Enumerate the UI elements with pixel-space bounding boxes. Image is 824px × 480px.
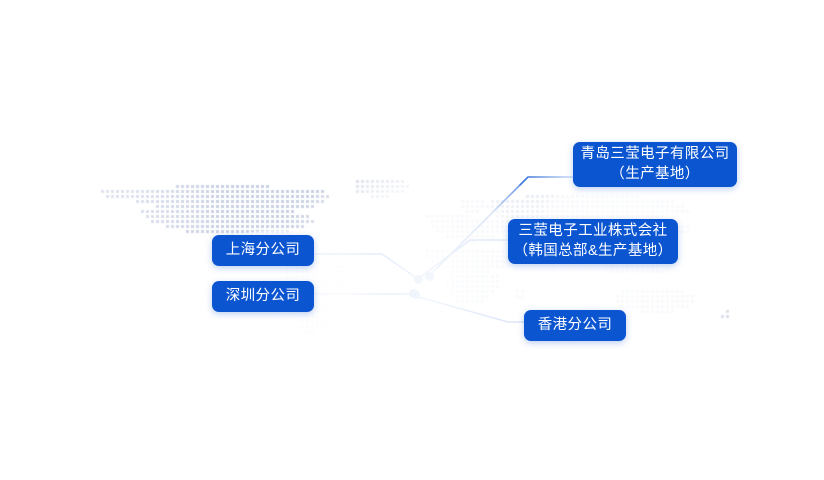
world-map-infographic: 青岛三莹电子有限公司（生产基地）三莹电子工业株式会社（韩国总部&生产基地）上海分… (0, 0, 824, 480)
label-line-2: （韩国总部&生产基地） (513, 242, 672, 261)
marker-qingdao[interactable] (425, 272, 434, 281)
label-line-1: 上海分公司 (226, 241, 301, 260)
label-line-2: （生产基地） (610, 165, 699, 184)
label-line-1: 香港分公司 (538, 316, 613, 335)
connector-hongkong (415, 296, 524, 322)
marker-shanghai[interactable] (414, 275, 423, 284)
label-line-1: 深圳分公司 (226, 287, 301, 306)
connector-shanghai (314, 254, 418, 279)
marker-hongkong[interactable] (411, 290, 420, 299)
label-shenzhen[interactable]: 深圳分公司 (212, 281, 314, 312)
label-hongkong[interactable]: 香港分公司 (524, 310, 626, 341)
label-korea-headquarters[interactable]: 三莹电子工业株式会社（韩国总部&生产基地） (508, 219, 678, 264)
connector-lines (0, 0, 824, 480)
label-line-1: 三莹电子工业株式会社 (519, 222, 668, 241)
label-qingdao[interactable]: 青岛三莹电子有限公司（生产基地） (573, 142, 737, 187)
label-line-1: 青岛三莹电子有限公司 (581, 145, 730, 164)
label-shanghai[interactable]: 上海分公司 (212, 235, 314, 266)
